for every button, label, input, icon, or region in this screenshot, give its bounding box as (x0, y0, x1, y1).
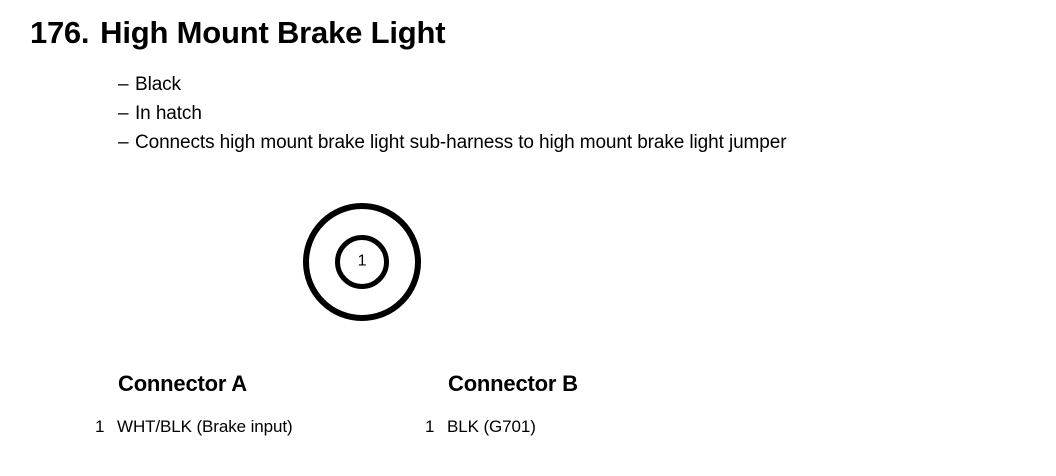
connector-face-diagram: 1 (303, 203, 421, 321)
item-number: 176. (30, 17, 89, 48)
list-item-label: Connects high mount brake light sub-harn… (135, 128, 786, 157)
connector-a-block: Connector A 1 WHT/BLK (Brake input) (118, 373, 293, 438)
list-item-label: In hatch (135, 99, 202, 128)
list-item-label: Black (135, 70, 181, 99)
connector-b-block: Connector B 1 BLK (G701) (448, 373, 578, 438)
pin-description: BLK (G701) (447, 416, 536, 438)
pin-description: WHT/BLK (Brake input) (117, 416, 293, 438)
pin-number: 1 (95, 416, 117, 438)
dash-icon: – (118, 99, 135, 128)
connector-b-heading: Connector B (448, 373, 578, 395)
list-item: – Black (118, 70, 786, 99)
connector-a-heading: Connector A (118, 373, 293, 395)
connector-a-pin-list: 1 WHT/BLK (Brake input) (95, 416, 293, 438)
table-row: 1 WHT/BLK (Brake input) (95, 416, 293, 438)
item-title: High Mount Brake Light (100, 17, 445, 48)
dash-icon: – (118, 128, 135, 157)
pin-number-label: 1 (358, 254, 367, 270)
connector-b-pin-list: 1 BLK (G701) (425, 416, 578, 438)
connector-pin-cavity-icon: 1 (335, 235, 389, 289)
dash-icon: – (118, 70, 135, 99)
description-list: – Black – In hatch – Connects high mount… (118, 70, 786, 157)
pin-number: 1 (425, 416, 447, 438)
table-row: 1 BLK (G701) (425, 416, 578, 438)
list-item: – In hatch (118, 99, 786, 128)
list-item: – Connects high mount brake light sub-ha… (118, 128, 786, 157)
page-title: 176. High Mount Brake Light (30, 17, 445, 48)
document-page: 176. High Mount Brake Light – Black – In… (0, 0, 1056, 476)
